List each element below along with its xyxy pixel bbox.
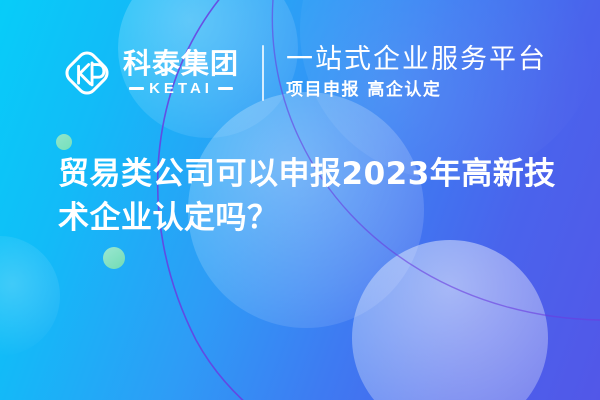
slogan-primary: 一站式企业服务平台 [286,45,547,75]
decorative-dot-green-large [103,247,125,269]
dash-right-icon [218,87,233,90]
banner-headline: 贸易类公司可以申报2023年高新技术企业认定吗？ [58,152,558,240]
header-divider [262,45,264,101]
brand-name-en: KETAI [149,81,213,96]
brand-name-cn: 科泰集团 [123,50,239,79]
brand-logo[interactable]: 科泰集团 KETAI [60,46,239,100]
ketai-diamond-monogram-icon [60,46,114,100]
banner-header: 科泰集团 KETAI 一站式企业服务平台 项目申报 高企认定 [0,36,600,110]
dash-left-icon [129,87,144,90]
brand-name-en-row: KETAI [129,81,233,96]
slogan-secondary: 项目申报 高企认定 [286,80,547,100]
slogan-block: 一站式企业服务平台 项目申报 高企认定 [286,45,547,101]
brand-wordmark: 科泰集团 KETAI [123,50,239,97]
promo-banner: 科泰集团 KETAI 一站式企业服务平台 项目申报 高企认定 贸易类公司可以申报… [0,0,600,400]
decorative-dot-green-small [56,134,72,150]
